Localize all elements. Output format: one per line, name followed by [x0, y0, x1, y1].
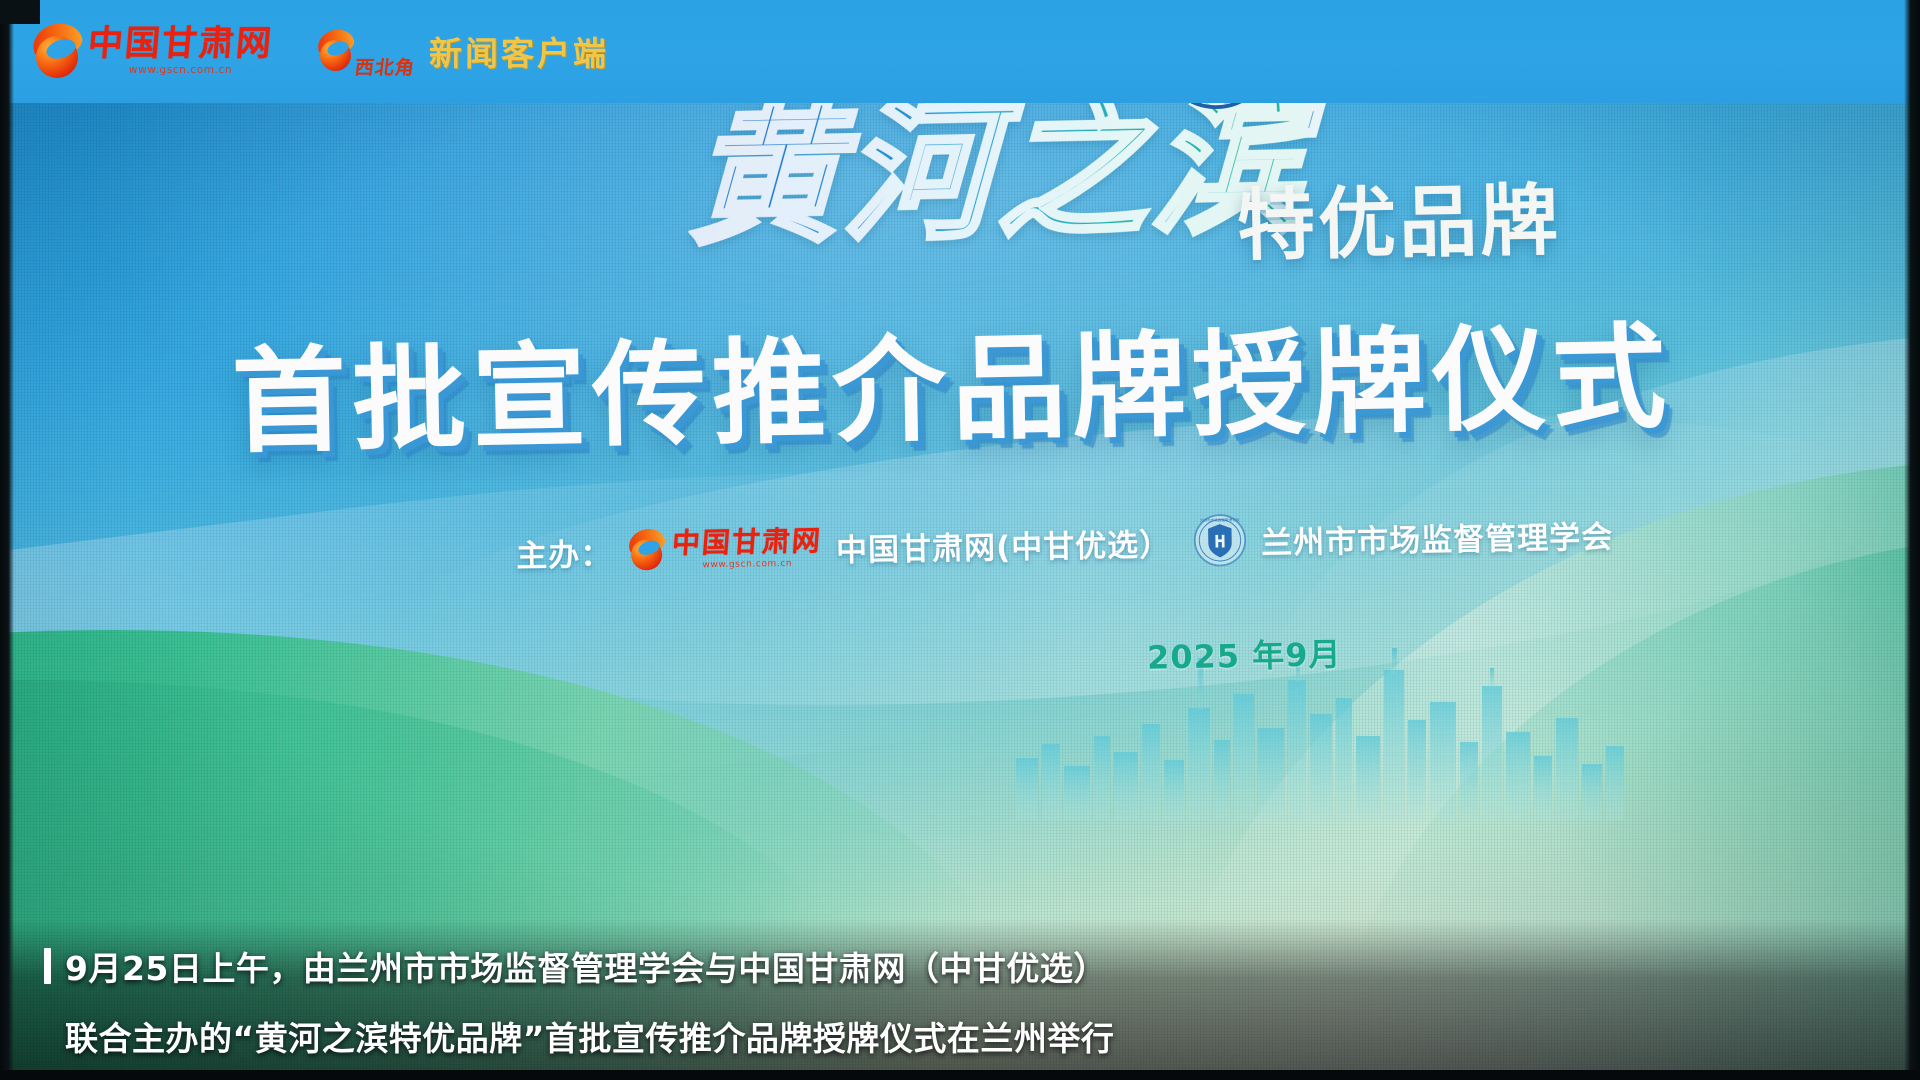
- gscn-wordmark: 中国甘肃网: [671, 527, 823, 558]
- xibeijiao-wordmark: 西北角: [353, 53, 416, 80]
- flame-swoosh-icon: [315, 29, 355, 73]
- caption-lower-third: 9月25日上午，由兰州市市场监督管理学会与中国甘肃网（中甘优选） 联合主办的“黄…: [0, 920, 1920, 1080]
- organiser-label: 主办：: [516, 528, 613, 575]
- calligraphy-title: 黄河之滨: [688, 89, 1309, 252]
- organiser-name-two: 兰州市市场监督管理学会: [1261, 511, 1614, 562]
- screen-corner-top-left: [0, 0, 40, 24]
- event-headline: 首批宣传推介品牌授牌仪式: [231, 316, 1793, 462]
- screen-bezel-right: [1904, 0, 1920, 1080]
- caption-text-1: 9月25日上午，由兰州市市场监督管理学会与中国甘肃网（中甘优选）: [65, 942, 1107, 990]
- organiser-name-one: 中国甘肃网(中甘优选）: [836, 519, 1172, 570]
- screen-bezel-left: [0, 0, 14, 1080]
- caption-marker-bar: [44, 948, 51, 984]
- news-client-wordmark: 新闻客户端: [429, 27, 609, 75]
- caption-line-2: 联合主办的“黄河之滨特优品牌”首批宣传推介品牌授牌仪式在兰州举行: [44, 1012, 1114, 1060]
- gscn-url: www.gscn.com.cn: [702, 558, 792, 570]
- flame-swoosh-icon: [30, 22, 84, 80]
- lanzhou-association-shield-icon: 兰州市市场监督管理学会: [1193, 513, 1248, 568]
- flame-swoosh-icon: [626, 528, 667, 573]
- gscn-logo-backdrop: 中国甘肃网 www.gscn.com.cn: [626, 525, 823, 572]
- gscn-url: www.gscn.com.cn: [129, 64, 232, 76]
- calligraphy-suffix: 特优品牌: [1236, 182, 1561, 266]
- screen-bezel-bottom: [0, 1070, 1920, 1080]
- screenshot-stage: 黄河之滨特优品牌 兰州市市场监督管理学会 黄河之滨 特优品牌 首批宣传推介品牌授…: [0, 0, 1920, 1080]
- svg-text:兰州市市场监督管理学会: 兰州市市场监督管理学会: [1200, 517, 1240, 523]
- event-date: 2025 年9月: [1147, 629, 1342, 678]
- gscn-wordmark: 中国甘肃网: [86, 26, 274, 61]
- caption-line-1: 9月25日上午，由兰州市市场监督管理学会与中国甘肃网（中甘优选）: [44, 942, 1114, 990]
- broadcast-top-bar: 中国甘肃网 www.gscn.com.cn 西北角 新闻客户端: [0, 0, 1920, 103]
- caption-text-2: 联合主办的“黄河之滨特优品牌”首批宣传推介品牌授牌仪式在兰州举行: [65, 1012, 1114, 1060]
